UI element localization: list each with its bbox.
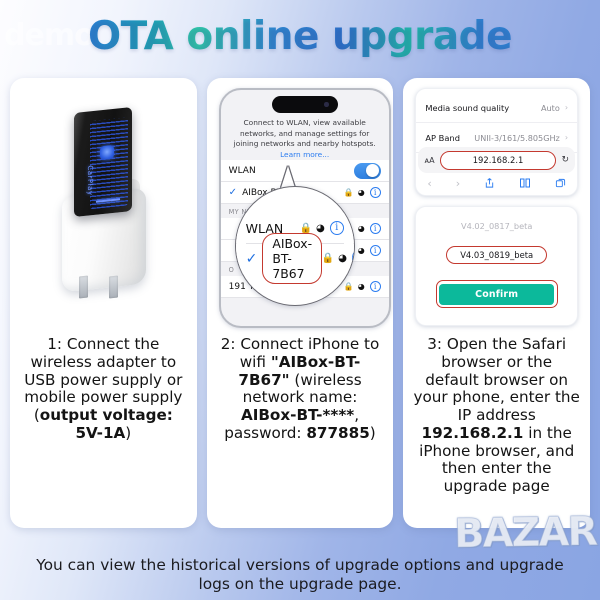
magnifier-pointer: [281, 166, 295, 188]
dongle-logo-icon: [100, 145, 114, 160]
watermark-bazar: BAZAR: [453, 509, 596, 557]
caption-ip-address: 192.168.2.1: [422, 424, 524, 442]
caption-password: 877885: [306, 424, 369, 442]
caption-text: 3: Open the Safari browser or the defaul…: [413, 335, 579, 424]
adapter-illustration: CarPlay: [16, 84, 191, 330]
step-1-caption: 1: Connect the wireless adapter to USB p…: [16, 330, 191, 524]
step-panel-adapter: CarPlay 1: Connect the wireless adapter …: [10, 78, 197, 528]
info-icon[interactable]: i: [370, 223, 381, 234]
setting-label: AP Band: [425, 133, 460, 143]
dongle-grille: [90, 117, 128, 209]
tabs-icon[interactable]: [555, 178, 566, 189]
wlan-description: Connect to WLAN, view available networks…: [230, 118, 380, 160]
safari-toolbar: ‹ ›: [420, 174, 573, 192]
book-icon[interactable]: [519, 177, 531, 189]
info-icon[interactable]: i: [370, 281, 381, 292]
lock-icon: 🔒: [299, 223, 311, 234]
wifi-icon: ◕: [358, 188, 365, 197]
iphone-frame: Connect to WLAN, view available networks…: [219, 88, 391, 328]
text-size-icon[interactable]: ᴀA: [424, 156, 434, 165]
lock-icon: 🔒: [344, 188, 354, 197]
reload-icon[interactable]: ↻: [561, 155, 569, 165]
chevron-right-icon: ›: [565, 133, 568, 142]
checkmark-icon: ✓: [229, 187, 237, 198]
footer-note: You can view the historical versions of …: [0, 556, 600, 595]
step-2-caption: 2: Connect iPhone to wifi "AIBox-BT-7B67…: [213, 330, 388, 524]
wlan-toggle[interactable]: [354, 163, 381, 179]
caption-paren-close: ): [125, 424, 131, 442]
info-icon[interactable]: i: [330, 221, 344, 235]
network-1-label: [229, 224, 232, 234]
caption-ssid-pattern: AIBox-BT-****: [241, 406, 354, 424]
current-version-label: V4.02_0817_beta: [426, 221, 567, 231]
setting-label: Media sound quality: [425, 103, 509, 113]
magnifier-callout: WLAN 🔒 ◕ i ✓ AIBox-BT-7B67 🔒 ◕ i: [235, 186, 355, 306]
wifi-icon: ◕: [338, 253, 347, 264]
lock-icon: 🔒: [344, 282, 354, 291]
wifi-icon: ◕: [358, 224, 365, 233]
info-icon[interactable]: i: [370, 245, 381, 256]
browser-screenshots: Media sound quality Auto › AP Band UNII-…: [409, 84, 584, 330]
forward-icon[interactable]: ›: [456, 177, 460, 190]
steps-row: CarPlay 1: Connect the wireless adapter …: [10, 78, 590, 528]
checkmark-icon: ✓: [246, 251, 258, 267]
step-panel-browser: Media sound quality Auto › AP Band UNII-…: [403, 78, 590, 528]
wifi-icon: ◕: [358, 246, 365, 255]
info-icon[interactable]: i: [370, 187, 381, 198]
toggle-knob: [366, 164, 379, 177]
new-version-option[interactable]: V4.03_0819_beta: [446, 246, 547, 264]
confirm-highlight: Confirm: [436, 280, 558, 308]
url-field[interactable]: 192.168.2.1: [440, 151, 557, 170]
step-3-caption: 3: Open the Safari browser or the defaul…: [409, 330, 584, 524]
dongle-brand-label: CarPlay: [86, 165, 94, 200]
wifi-icon: ◕: [316, 223, 325, 234]
caption-emphasis: output voltage: 5V-1A: [40, 406, 173, 442]
wireless-dongle: CarPlay: [74, 107, 132, 217]
share-icon[interactable]: [484, 177, 495, 189]
wifi-icon: ◕: [358, 282, 365, 291]
adapter-prong-left: [79, 276, 88, 299]
wlan-description-text: Connect to WLAN, view available networks…: [234, 118, 376, 148]
learn-more-link[interactable]: Learn more...: [280, 150, 329, 159]
dynamic-island: [272, 96, 338, 113]
magnified-ssid-row[interactable]: ✓ AIBox-BT-7B67 🔒 ◕ i: [236, 244, 354, 274]
front-camera-icon: [324, 102, 329, 107]
header: OTA online upgrade: [0, 0, 600, 72]
page-title: OTA online upgrade: [88, 14, 512, 59]
setting-row-media-sound-quality[interactable]: Media sound quality Auto ›: [416, 93, 577, 123]
confirm-button[interactable]: Confirm: [439, 284, 554, 305]
lock-icon: 🔒: [322, 253, 334, 264]
setting-value: UNII-3/161/5.805GHz: [474, 133, 560, 143]
wlan-label: WLAN: [229, 166, 256, 176]
step-panel-wifi: Connect to WLAN, view available networks…: [207, 78, 394, 528]
caption-paren-close: ): [370, 424, 376, 442]
wlan-toggle-row[interactable]: WLAN: [221, 160, 389, 182]
network-2-label: [229, 246, 232, 256]
setting-value: Auto: [541, 103, 560, 113]
chevron-right-icon: ›: [565, 103, 568, 112]
safari-address-bar: ᴀA 192.168.2.1 ↻: [418, 147, 575, 173]
upgrade-card: V4.02_0817_beta V4.03_0819_beta Confirm: [415, 206, 578, 326]
caption-text: 1: Connect the wireless adapter to USB p…: [24, 335, 182, 406]
highlighted-ssid: AIBox-BT-7B67: [262, 233, 321, 284]
settings-card: Media sound quality Auto › AP Band UNII-…: [415, 88, 578, 196]
adapter-prong-right: [109, 276, 118, 299]
phone-screenshot: Connect to WLAN, view available networks…: [213, 84, 388, 330]
back-icon[interactable]: ‹: [427, 177, 431, 190]
